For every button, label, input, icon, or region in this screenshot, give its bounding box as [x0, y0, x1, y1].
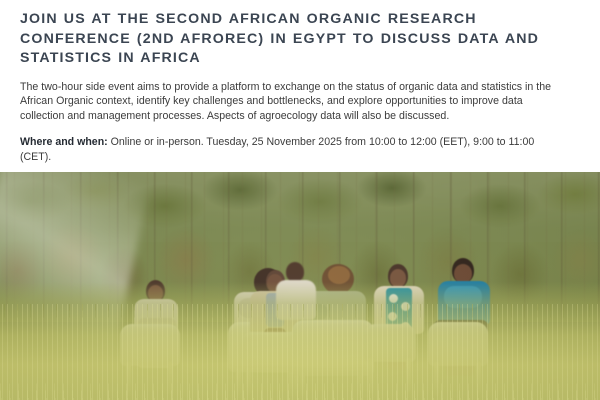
where-and-when-line: Where and when: Online or in-person. Tue…	[20, 135, 565, 164]
photo-scene	[0, 172, 600, 400]
where-and-when-label: Where and when:	[20, 136, 108, 148]
page-title: JOIN US AT THE SECOND AFRICAN ORGANIC RE…	[20, 10, 566, 69]
event-photo	[0, 172, 600, 400]
announcement-page: JOIN US AT THE SECOND AFRICAN ORGANIC RE…	[0, 0, 600, 400]
description-paragraph: The two-hour side event aims to provide …	[20, 80, 565, 124]
text-content-block: JOIN US AT THE SECOND AFRICAN ORGANIC RE…	[0, 0, 600, 172]
foreground-grass-blades	[0, 304, 600, 400]
person-5-head	[286, 262, 304, 282]
